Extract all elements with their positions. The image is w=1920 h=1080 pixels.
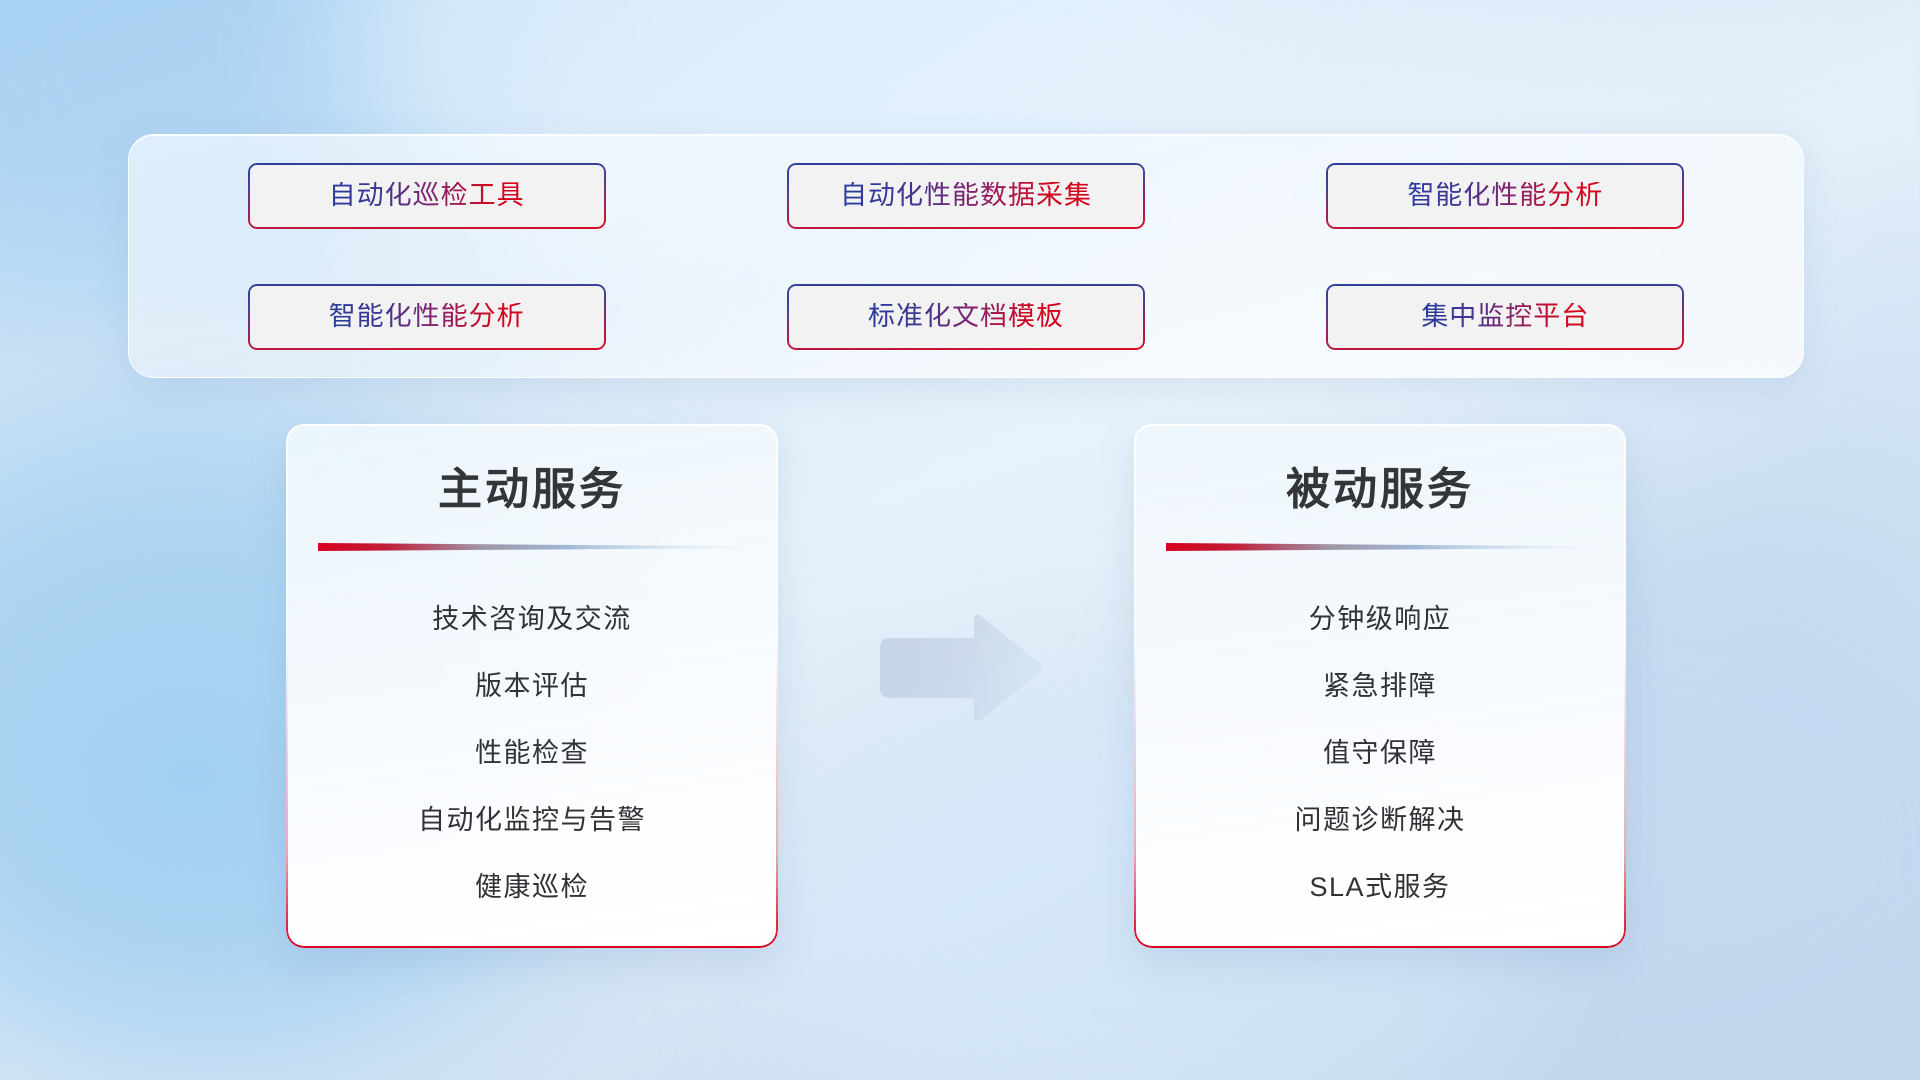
list-item: 值守保障 xyxy=(1134,720,1626,787)
capability-pill-label: 自动化巡检工具 xyxy=(329,182,525,209)
capability-pill-label: 标准化文档模板 xyxy=(868,303,1064,330)
capability-pill-label: 智能化性能分析 xyxy=(329,303,525,330)
card-title-active: 主动服务 xyxy=(286,424,778,514)
capability-pill-label: 智能化性能分析 xyxy=(1407,182,1603,209)
capability-pill-5[interactable]: 集中监控平台 xyxy=(1326,284,1684,350)
capability-panel: 自动化巡检工具 自动化性能数据采集 智能化性能分析 智能化性能分析 标准化文档模… xyxy=(128,134,1804,378)
capability-pill-4[interactable]: 标准化文档模板 xyxy=(787,284,1145,350)
list-item: 技术咨询及交流 xyxy=(286,586,778,653)
capability-pill-3[interactable]: 智能化性能分析 xyxy=(248,284,606,350)
card-list-active: 技术咨询及交流 版本评估 性能检查 自动化监控与告警 健康巡检 xyxy=(286,552,778,921)
service-card-active: 主动服务 技术咨询及交流 版本评估 性能检查 xyxy=(286,424,778,948)
card-divider xyxy=(318,542,746,552)
list-item: 健康巡检 xyxy=(286,854,778,921)
capability-pill-label: 集中监控平台 xyxy=(1421,303,1589,330)
capability-pill-2[interactable]: 智能化性能分析 xyxy=(1326,163,1684,229)
list-item: 紧急排障 xyxy=(1134,653,1626,720)
service-card-passive: 被动服务 分钟级响应 紧急排障 值守保障 xyxy=(1134,424,1626,948)
capability-pill-label: 自动化性能数据采集 xyxy=(840,182,1092,209)
diagram-stage: 自动化巡检工具 自动化性能数据采集 智能化性能分析 智能化性能分析 标准化文档模… xyxy=(0,0,1920,1080)
list-item: 分钟级响应 xyxy=(1134,586,1626,653)
card-title-passive: 被动服务 xyxy=(1134,424,1626,514)
list-item: 问题诊断解决 xyxy=(1134,787,1626,854)
list-item: 版本评估 xyxy=(286,653,778,720)
card-list-passive: 分钟级响应 紧急排障 值守保障 问题诊断解决 SLA式服务 xyxy=(1134,552,1626,921)
capability-pill-1[interactable]: 自动化性能数据采集 xyxy=(787,163,1145,229)
capability-pill-0[interactable]: 自动化巡检工具 xyxy=(248,163,606,229)
list-item: 性能检查 xyxy=(286,720,778,787)
list-item: 自动化监控与告警 xyxy=(286,787,778,854)
card-divider xyxy=(1166,542,1594,552)
list-item: SLA式服务 xyxy=(1134,854,1626,921)
arrow-right-icon xyxy=(872,612,1044,730)
